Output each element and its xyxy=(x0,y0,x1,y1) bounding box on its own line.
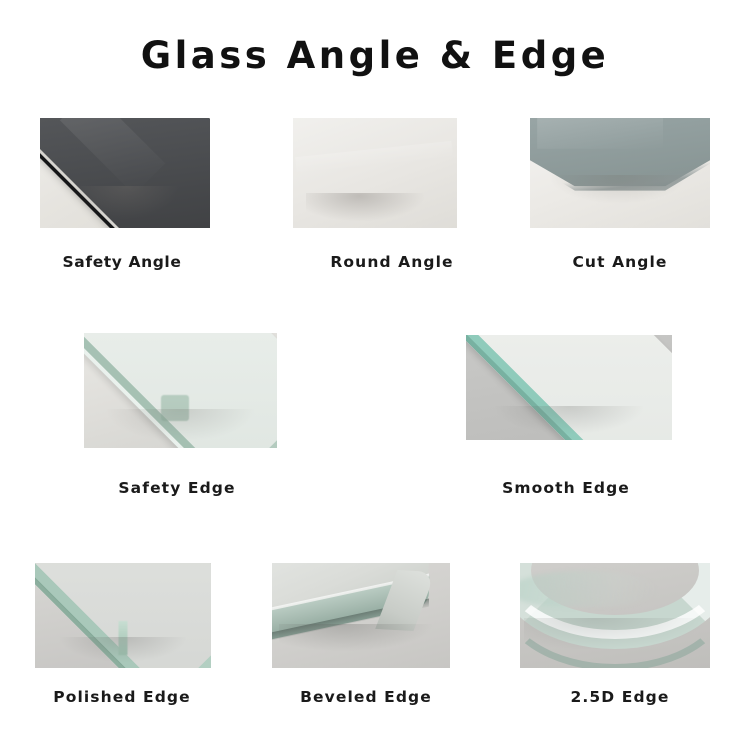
drop-shadow xyxy=(306,193,424,222)
cut-angle-image xyxy=(530,118,710,228)
card-round-angle[interactable] xyxy=(293,118,457,228)
card-safety-edge[interactable] xyxy=(84,333,277,448)
drop-shadow xyxy=(71,186,180,219)
card-cut-angle[interactable] xyxy=(530,118,710,228)
caption-2-5d-edge: 2.5D Edge xyxy=(571,688,670,706)
glass-gloss-highlight xyxy=(537,118,663,149)
caption-smooth-edge: Smooth Edge xyxy=(502,479,630,497)
drop-shadow xyxy=(548,175,688,204)
caption-safety-angle: Safety Angle xyxy=(63,253,182,271)
card-beveled-edge[interactable] xyxy=(272,563,450,668)
two-point-five-d-edge-image xyxy=(520,563,710,668)
card-smooth-edge[interactable] xyxy=(466,335,672,440)
caption-cut-angle: Cut Angle xyxy=(572,253,667,271)
drop-shadow xyxy=(495,406,643,433)
safety-edge-image xyxy=(84,333,277,448)
caption-safety-edge: Safety Edge xyxy=(118,479,235,497)
caption-beveled-edge: Beveled Edge xyxy=(300,688,432,706)
drop-shadow xyxy=(524,618,703,650)
page-title: Glass Angle & Edge xyxy=(0,34,750,77)
card-2-5d-edge[interactable] xyxy=(520,563,710,668)
drop-shadow xyxy=(279,624,432,651)
glass-angle-edge-poster: Glass Angle & Edge Safety Angle Round An… xyxy=(0,0,750,750)
polished-edge-image xyxy=(35,563,211,668)
card-polished-edge[interactable] xyxy=(35,563,211,668)
caption-round-angle: Round Angle xyxy=(330,253,453,271)
smooth-edge-image xyxy=(466,335,672,440)
card-safety-angle[interactable] xyxy=(40,118,210,228)
beveled-edge-image xyxy=(272,563,450,668)
glass-tint-overlay xyxy=(520,571,657,607)
caption-polished-edge: Polished Edge xyxy=(53,688,191,706)
drop-shadow xyxy=(60,637,187,662)
drop-shadow xyxy=(107,409,254,441)
safety-angle-image xyxy=(40,118,210,228)
round-angle-image xyxy=(293,118,457,228)
